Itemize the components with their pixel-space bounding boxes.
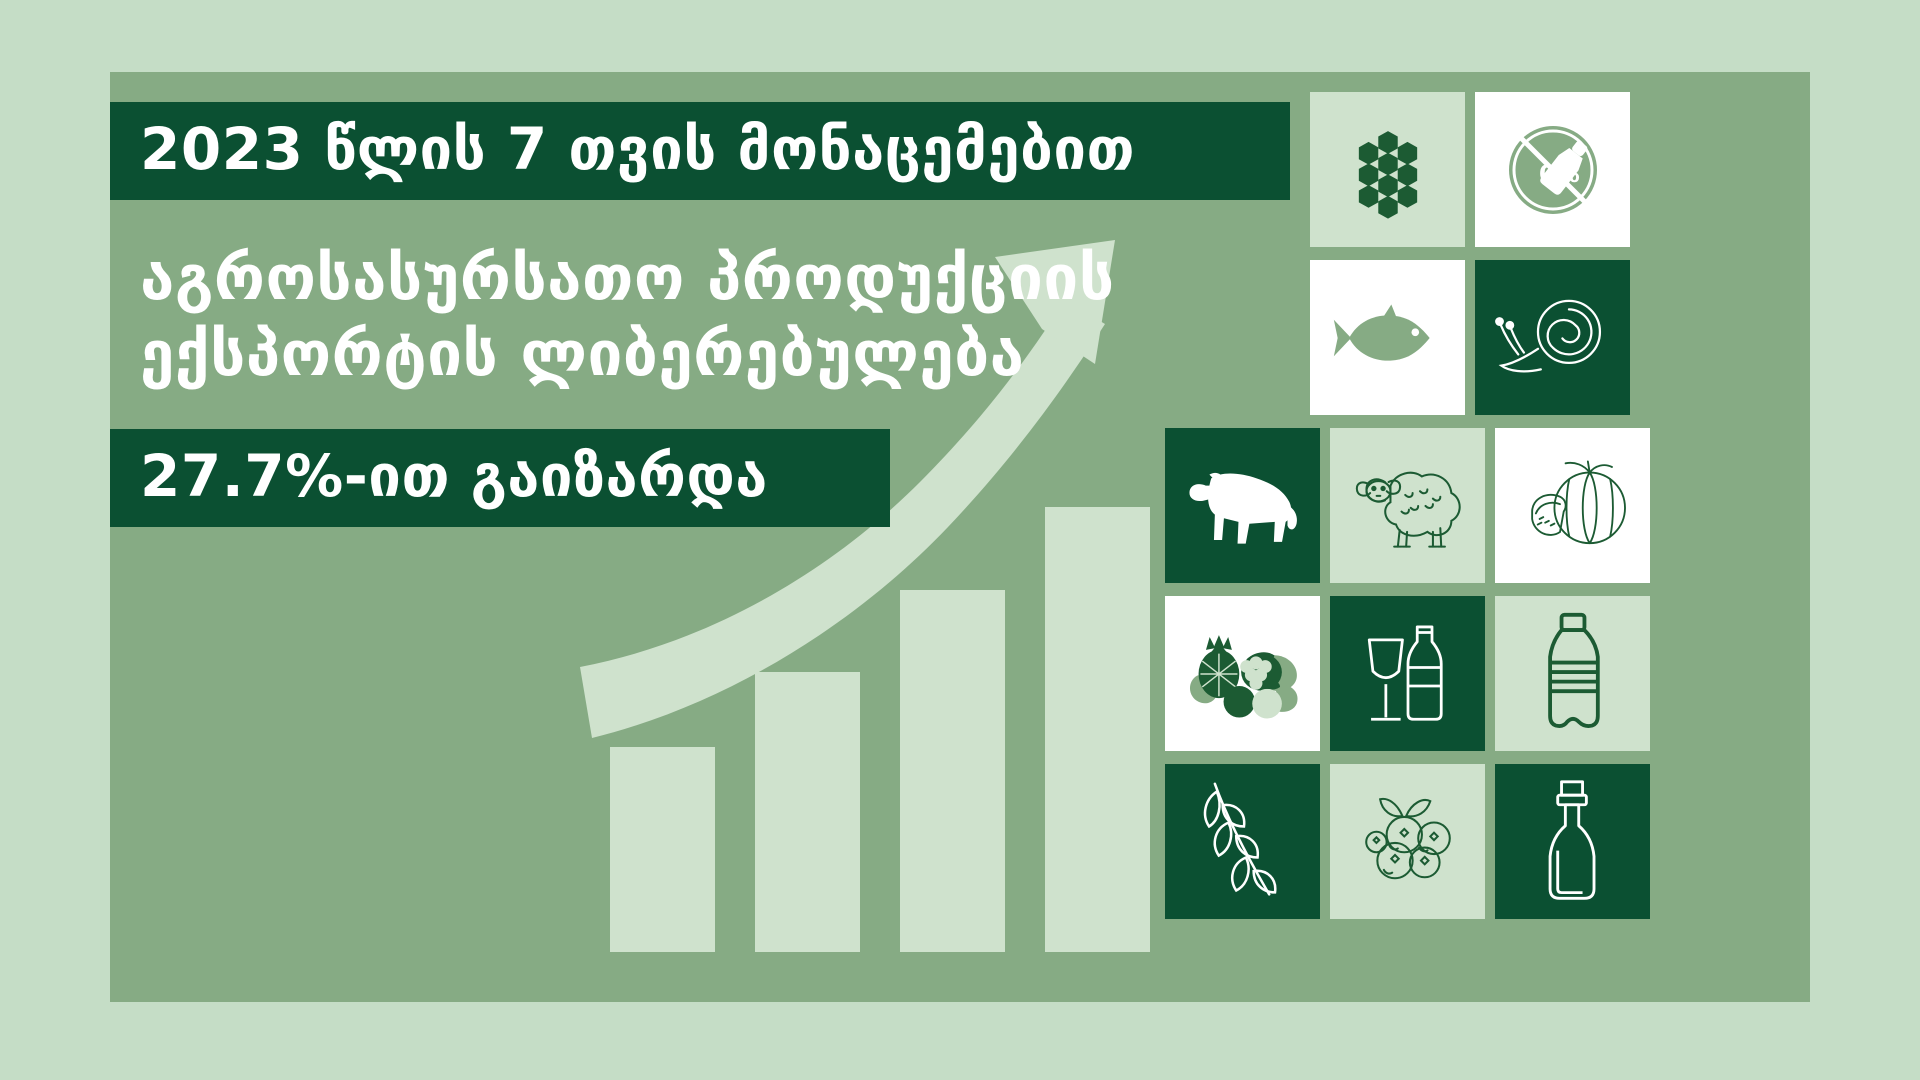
date-band-label: 2023 წლის 7 თვის მონაცემებით xyxy=(140,120,1260,178)
zero-percent-badge: 0% xyxy=(1539,160,1580,188)
sheep-icon xyxy=(1348,454,1468,558)
mosaic-tile-mineral-water xyxy=(1495,596,1650,751)
water-bottle-icon xyxy=(1534,611,1612,737)
fish-icon xyxy=(1330,293,1445,383)
oil-bottle-icon xyxy=(1536,778,1610,906)
herb-branch-icon xyxy=(1188,778,1298,906)
infographic-panel: 2023 წლის 7 თვის მონაცემებით აგროსასურსა… xyxy=(110,72,1810,1002)
chart-bar-3 xyxy=(900,590,1005,952)
mosaic-tile-bottled-oil xyxy=(1495,764,1650,919)
snail-icon xyxy=(1492,290,1614,385)
mosaic-tile-snail xyxy=(1475,260,1630,415)
growth-band: 27.7%-ით გაიზარდა xyxy=(110,429,890,527)
blueberry-icon xyxy=(1348,790,1468,894)
mosaic-tile-cattle xyxy=(1165,428,1320,583)
mosaic-tile-fish xyxy=(1310,260,1465,415)
infographic-canvas: 2023 წლის 7 თვის მონაცემებით აგროსასურსა… xyxy=(0,0,1920,1080)
melon-icon xyxy=(1511,454,1635,558)
headline-line-2: ექსპორტის ლიბერებულება xyxy=(140,316,1220,392)
text-column: 2023 წლის 7 თვის მონაცემებით აგროსასურსა… xyxy=(110,102,1290,527)
chart-bar-2 xyxy=(755,672,860,952)
mosaic-tile-wine xyxy=(1330,596,1485,751)
mosaic-tile-sheep xyxy=(1330,428,1485,583)
mosaic-tile-berries xyxy=(1330,764,1485,919)
mosaic-tile-zero-percent: 0% xyxy=(1475,92,1630,247)
mosaic-tile-herbs xyxy=(1165,764,1320,919)
growth-band-label: 27.7%-ით გაიზარდა xyxy=(140,447,860,505)
chart-bar-1 xyxy=(610,747,715,952)
wine-bottle-glass-icon xyxy=(1352,614,1464,734)
cow-icon xyxy=(1184,457,1302,555)
date-band: 2023 წლის 7 თვის მონაცემებით xyxy=(110,102,1290,200)
fruit-basket-icon xyxy=(1181,624,1305,724)
product-icon-mosaic: 0% xyxy=(1165,92,1805,1002)
mosaic-tile-fruits-and-vegetables xyxy=(1165,596,1320,751)
chart-bar-4 xyxy=(1045,507,1150,952)
headline-block: აგროსასურსათო პროდუქციის ექსპორტის ლიბერ… xyxy=(140,240,1220,391)
no-bottle-icon: 0% xyxy=(1493,110,1613,230)
mosaic-tile-melon xyxy=(1495,428,1650,583)
honeycomb-icon xyxy=(1334,116,1442,224)
headline-line-1: აგროსასურსათო პროდუქციის xyxy=(140,240,1220,316)
mosaic-tile-honey xyxy=(1310,92,1465,247)
